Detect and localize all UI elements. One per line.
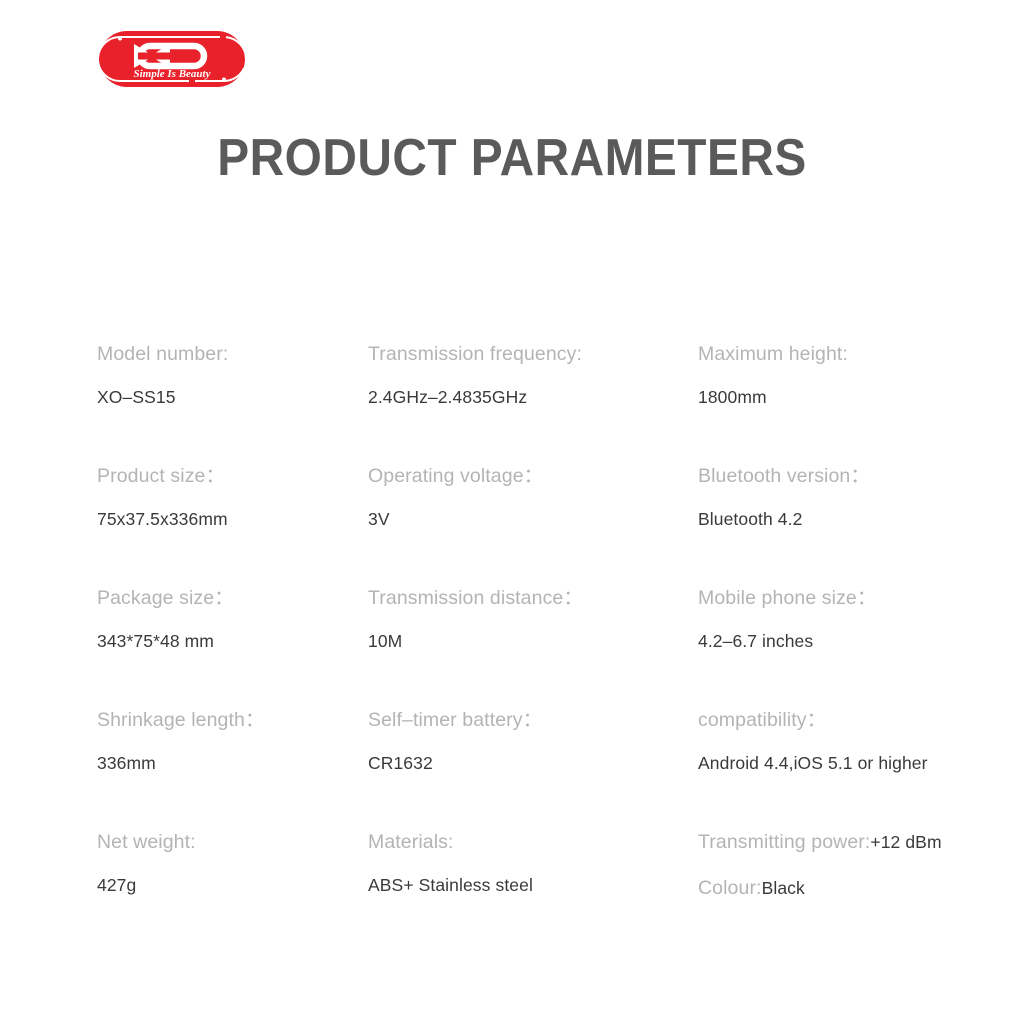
spec-item-materials: Materials: ABS+ Stainless steel (368, 828, 693, 950)
spec-item-net-weight: Net weight: 427g (97, 828, 362, 950)
spec-value: Android 4.4,iOS 5.1 or higher (698, 750, 1018, 776)
spec-label: Transmission frequency: (368, 340, 693, 368)
spec-item-transmission-distance: Transmission distance： 10M (368, 584, 693, 706)
spec-column-2: Transmission frequency: 2.4GHz–2.4835GHz… (368, 340, 693, 950)
product-parameters-grid: Model number: XO–SS15 Product size： 75x3… (0, 0, 1024, 1024)
spec-label: Self–timer battery： (368, 706, 693, 734)
spec-value: +12 dBm (870, 832, 941, 852)
spec-value: CR1632 (368, 750, 693, 776)
spec-label: Package size： (97, 584, 362, 612)
spec-value: ABS+ Stainless steel (368, 872, 693, 898)
spec-value: 343*75*48 mm (97, 628, 362, 654)
spec-item-mobile-phone-size: Mobile phone size： 4.2–6.7 inches (698, 584, 1018, 706)
spec-label: Mobile phone size： (698, 584, 1018, 612)
spec-item-model-number: Model number: XO–SS15 (97, 340, 362, 462)
spec-value: Black (762, 878, 805, 898)
spec-item-self-timer-battery: Self–timer battery： CR1632 (368, 706, 693, 828)
spec-column-1: Model number: XO–SS15 Product size： 75x3… (97, 340, 362, 950)
spec-value: XO–SS15 (97, 384, 362, 410)
spec-label: Transmission distance： (368, 584, 693, 612)
spec-item-bluetooth-version: Bluetooth version： Bluetooth 4.2 (698, 462, 1018, 584)
spec-label: Operating voltage： (368, 462, 693, 490)
spec-item-package-size: Package size： 343*75*48 mm (97, 584, 362, 706)
spec-item-shrinkage-length: Shrinkage length： 336mm (97, 706, 362, 828)
spec-column-3: Maximum height: 1800mm Bluetooth version… (698, 340, 1018, 920)
spec-value: Bluetooth 4.2 (698, 506, 1018, 532)
spec-value: 75x37.5x336mm (97, 506, 362, 532)
spec-item-operating-voltage: Operating voltage： 3V (368, 462, 693, 584)
spec-label: compatibility： (698, 706, 1018, 734)
spec-label: Shrinkage length： (97, 706, 362, 734)
spec-label: Model number: (97, 340, 362, 368)
spec-item-transmitting-power: Transmitting power:+12 dBm (698, 828, 1018, 874)
spec-item-maximum-height: Maximum height: 1800mm (698, 340, 1018, 462)
spec-item-transmission-frequency: Transmission frequency: 2.4GHz–2.4835GHz (368, 340, 693, 462)
spec-value: 427g (97, 872, 362, 898)
spec-item-product-size: Product size： 75x37.5x336mm (97, 462, 362, 584)
spec-item-colour: Colour:Black (698, 874, 1018, 920)
spec-label: Maximum height: (698, 340, 1018, 368)
spec-label: Transmitting power: (698, 831, 870, 853)
spec-label: Product size： (97, 462, 362, 490)
spec-value: 3V (368, 506, 693, 532)
spec-label: Materials: (368, 828, 693, 856)
spec-value: 2.4GHz–2.4835GHz (368, 384, 693, 410)
spec-value: 336mm (97, 750, 362, 776)
spec-value: 4.2–6.7 inches (698, 628, 1018, 654)
spec-label: Net weight: (97, 828, 362, 856)
spec-value: 10M (368, 628, 693, 654)
spec-label: Colour: (698, 877, 762, 899)
spec-item-compatibility: compatibility： Android 4.4,iOS 5.1 or hi… (698, 706, 1018, 828)
spec-value: 1800mm (698, 384, 1018, 410)
spec-label: Bluetooth version： (698, 462, 1018, 490)
